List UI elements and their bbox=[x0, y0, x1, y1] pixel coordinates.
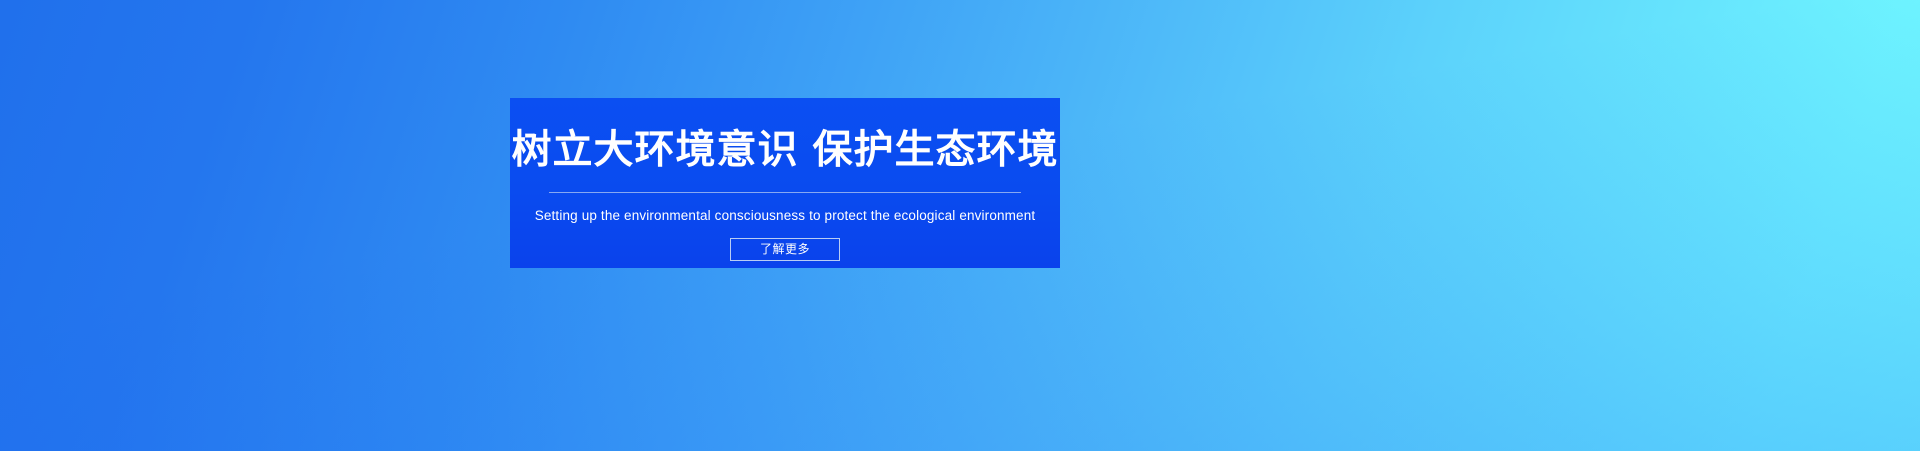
headline-segment-secondary: 保护生态环境 bbox=[813, 128, 1059, 172]
hero-banner: 树立大环境意识保护生态环境 Setting up the environment… bbox=[0, 0, 1920, 451]
learn-more-button[interactable]: 了解更多 bbox=[730, 238, 840, 261]
headline-segment-primary: 树立大环境意识 bbox=[512, 128, 799, 172]
page-title: 树立大环境意识保护生态环境 bbox=[512, 98, 1059, 170]
hero-subtitle: Setting up the environmental consciousne… bbox=[535, 193, 1036, 224]
hero-content-panel: 树立大环境意识保护生态环境 Setting up the environment… bbox=[510, 98, 1060, 268]
title-divider bbox=[549, 192, 1021, 193]
